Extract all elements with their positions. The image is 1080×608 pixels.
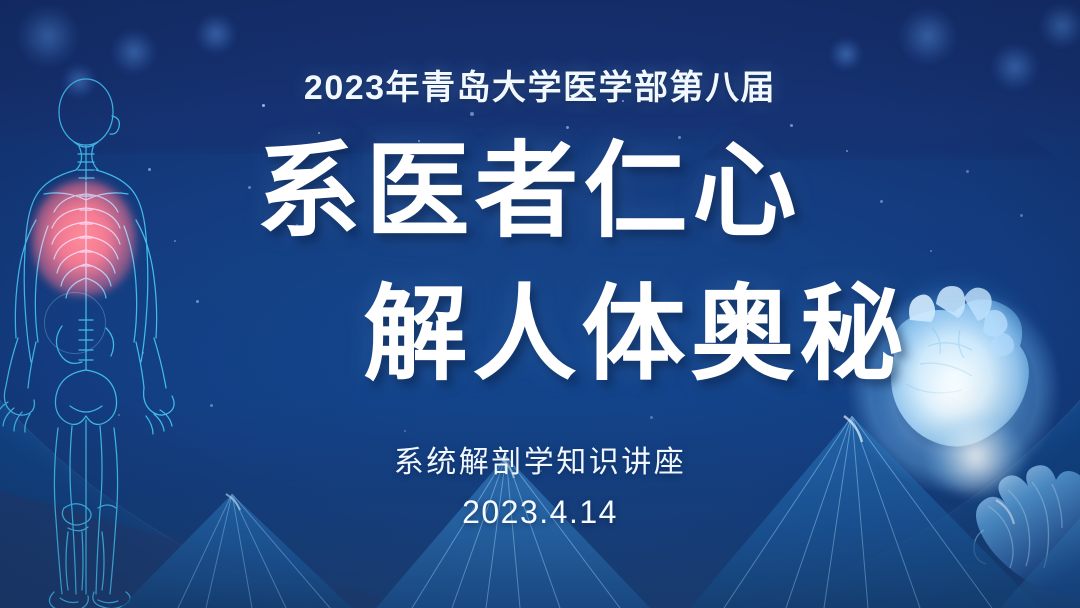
event-kicker-text: 2023年青岛大学医学部第八届 (304, 60, 776, 109)
event-kicker: 2023年青岛大学医学部第八届 (0, 60, 1080, 109)
poster-canvas: 2023年青岛大学医学部第八届 系医者仁心 解人体奥秘 系统解剖学知识讲座 20… (0, 0, 1080, 608)
poster-title-line-2: 解人体奥秘 (96, 283, 1080, 387)
poster-title-line-1: 系医者仁心 (0, 140, 1080, 244)
poster-date: 2023.4.14 (0, 494, 1080, 531)
poster-subtitle: 系统解剖学知识讲座 (0, 437, 1080, 481)
